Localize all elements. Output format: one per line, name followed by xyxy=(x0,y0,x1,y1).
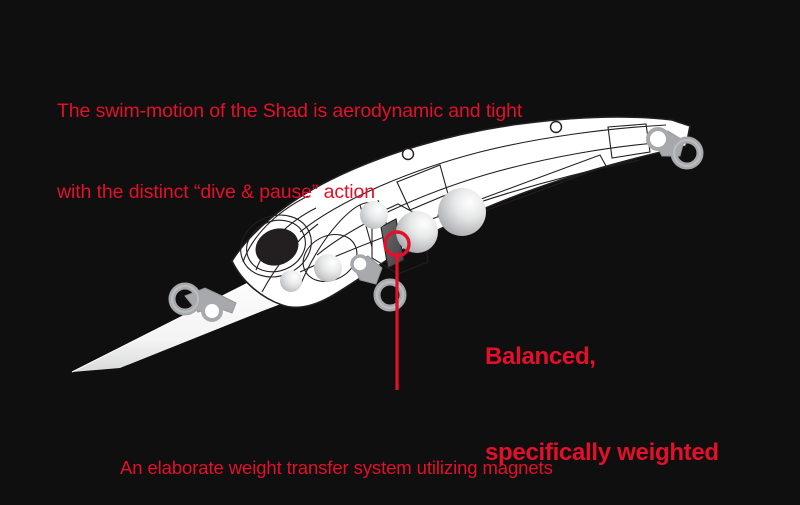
tail-hook-hanger xyxy=(648,129,700,166)
illustration-page: The swim-motion of the Shad is aerodynam… xyxy=(0,0,800,505)
weight-transfer-caption-line-1: An elaborate weight transfer system util… xyxy=(120,455,593,481)
swim-motion-caption-line-2: with the distinct “dive & pause” action xyxy=(57,179,522,206)
weight-transfer-caption: An elaborate weight transfer system util… xyxy=(120,404,593,505)
swim-motion-caption-line-1: The swim-motion of the Shad is aerodynam… xyxy=(57,98,522,125)
screw-eye xyxy=(551,122,562,133)
ball-bearing xyxy=(280,270,302,292)
swim-motion-caption: The swim-motion of the Shad is aerodynam… xyxy=(57,44,522,259)
balanced-weighting-caption-line-1: Balanced, xyxy=(485,341,719,373)
